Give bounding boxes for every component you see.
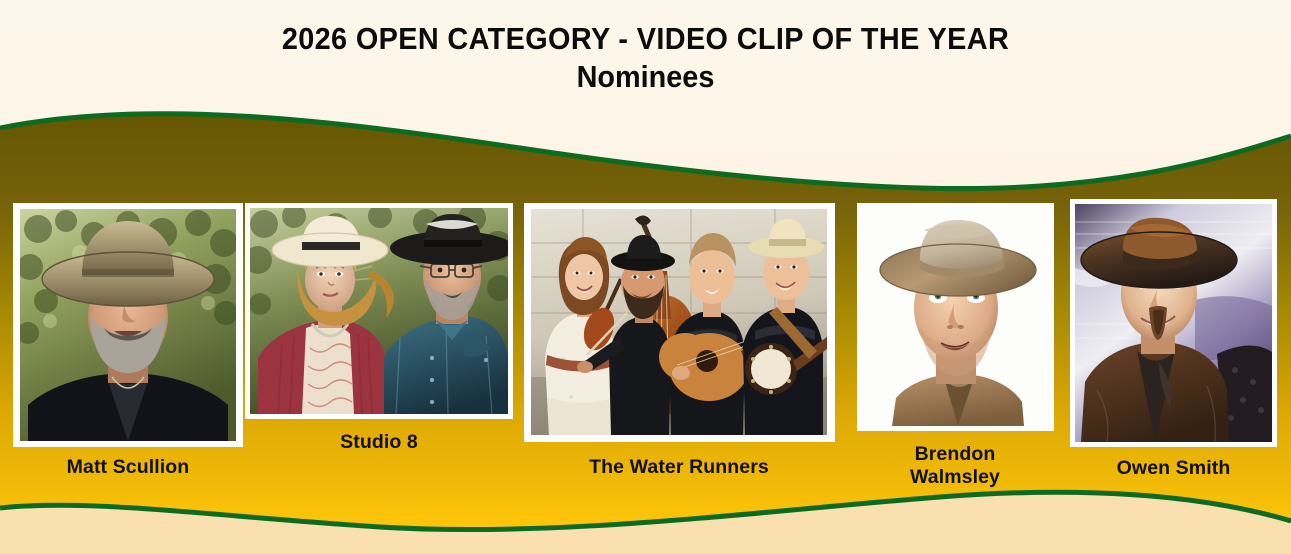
photo-frame xyxy=(245,203,513,419)
nominee-name-matt-scullion: Matt Scullion xyxy=(10,456,246,479)
nominee-card-matt-scullion[interactable]: Matt Scullion xyxy=(13,203,245,493)
nominee-photo-owen-smith xyxy=(1075,204,1272,442)
nominee-photo-the-water-runners xyxy=(531,209,827,435)
nominee-photo-matt-scullion xyxy=(20,209,236,441)
nominee-photo-brendon-walmsley xyxy=(862,208,1049,426)
photo-frame xyxy=(1070,199,1277,447)
nominees-poster: Matt Scullion xyxy=(0,0,1291,554)
nominee-card-brendon-walmsley[interactable]: Brendon Walmsley xyxy=(857,203,1055,493)
page-title: 2026 OPEN CATEGORY - VIDEO CLIP OF THE Y… xyxy=(0,22,1291,96)
nominee-card-the-water-runners[interactable]: The Water Runners xyxy=(524,203,836,493)
title-line-2: Nominees xyxy=(45,57,1246,97)
nominee-name-the-water-runners: The Water Runners xyxy=(523,456,835,479)
nominee-name-brendon-walmsley: Brendon Walmsley xyxy=(856,443,1054,488)
nominee-name-studio-8: Studio 8 xyxy=(245,431,513,454)
photo-frame xyxy=(857,203,1054,431)
nominee-photo-studio-8 xyxy=(250,208,508,414)
nominee-name-owen-smith: Owen Smith xyxy=(1070,457,1277,480)
title-line-1: 2026 OPEN CATEGORY - VIDEO CLIP OF THE Y… xyxy=(45,22,1246,57)
nominee-card-studio-8[interactable]: Studio 8 xyxy=(245,203,515,468)
photo-frame xyxy=(13,203,243,447)
photo-frame xyxy=(524,203,835,442)
nominee-card-owen-smith[interactable]: Owen Smith xyxy=(1070,199,1278,489)
